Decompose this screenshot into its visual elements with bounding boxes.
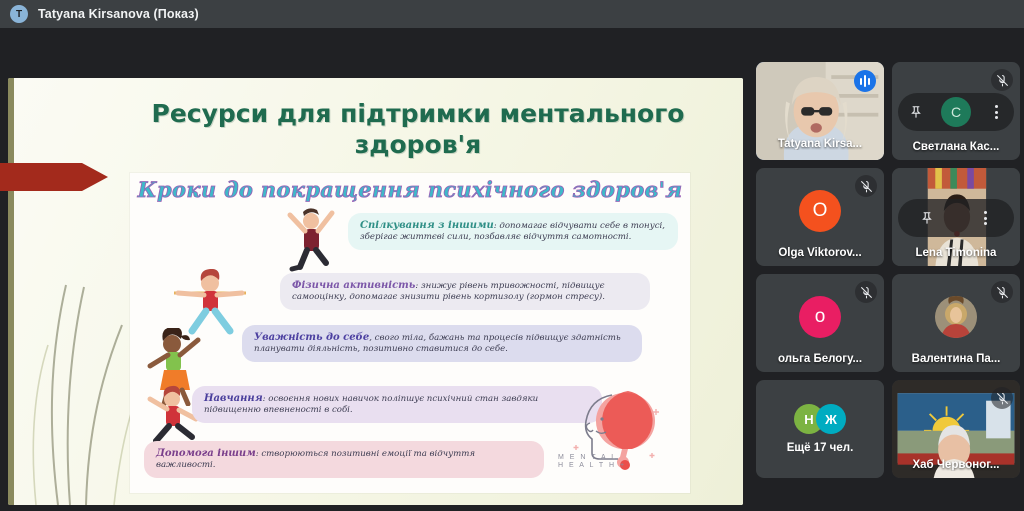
participant-initial-avatar: о — [799, 296, 841, 338]
pin-icon[interactable] — [916, 207, 938, 229]
step-heading-1: Спілкування з іншими — [360, 220, 494, 231]
participant-tile-wrap: Н Ж Ещё 17 чел. — [752, 376, 888, 482]
participant-rail[interactable]: Tatyana Kirsa... С — [752, 58, 1024, 511]
steps-card: Кроки до покращення психічного здоров'я — [130, 173, 690, 493]
mental-health-label: M E N T A L H E A L T H + — [558, 454, 626, 472]
participant-tile-olga-b[interactable]: о ольга Белогу... — [756, 274, 884, 372]
slide-left-spine — [8, 78, 14, 505]
mic-off-glyph — [860, 180, 873, 193]
pin-glyph — [920, 211, 934, 225]
participant-tile-wrap: Tatyana Kirsa... — [752, 58, 888, 164]
jumping-man-illustration — [280, 205, 338, 275]
mental-health-label-line-1: M E N T A L — [558, 454, 626, 463]
step-heading-2: Фізична активність — [292, 280, 415, 291]
participant-tile-olga-v[interactable]: O Olga Viktorov... — [756, 168, 884, 266]
yoga-woman-illustration — [172, 269, 248, 335]
overflow-avatar-group: Н Ж — [794, 404, 846, 434]
steps-card-title: Кроки до покращення психічного здоров'я — [130, 177, 690, 202]
participant-tile-hub[interactable]: Хаб Червоног... — [892, 380, 1020, 478]
audio-level-icon — [854, 70, 876, 92]
participant-name: ольга Белогу... — [756, 353, 884, 365]
step-bubble-4: Навчання: освоєння нових навичок поліпшу… — [192, 386, 602, 423]
mic-off-icon — [991, 281, 1013, 303]
participant-name: Olga Viktorov... — [756, 247, 884, 259]
more-participants-label: Ещё 17 чел. — [787, 442, 854, 454]
mic-off-glyph — [996, 392, 1009, 405]
participant-tile-lena[interactable]: Lena Timonina — [892, 168, 1020, 266]
participant-name: Хаб Червоног... — [892, 459, 1020, 471]
slide-title-line-2: здоров'я — [118, 129, 718, 160]
overflow-avatar-2: Ж — [816, 404, 846, 434]
mic-off-glyph — [860, 286, 873, 299]
mental-health-label-line-2: H E A L T H + — [558, 462, 626, 471]
step-bubble-1: Спілкування з іншими: допомагає відчуват… — [348, 213, 678, 250]
mic-off-icon — [991, 387, 1013, 409]
slide-title-line-1: Ресурси для підтримки ментального — [118, 98, 718, 129]
mental-health-mark: M E N T A L H E A L T H + — [556, 379, 674, 475]
participant-tile-tatyana[interactable]: Tatyana Kirsa... — [756, 62, 884, 160]
tile-hover-controls[interactable] — [898, 199, 1014, 237]
step-heading-3: Уважність до себе — [254, 332, 369, 343]
meeting-screen: T Tatyana Kirsanova (Показ) Ре — [0, 0, 1024, 511]
mic-off-glyph — [996, 74, 1009, 87]
shared-screen-stage[interactable]: Ресурси для підтримки ментального здоров… — [0, 28, 750, 511]
mic-off-icon — [855, 175, 877, 197]
step-bubble-2: Фізична активність: знижує рівень тривож… — [280, 273, 650, 310]
presenter-label: Tatyana Kirsanova (Показ) — [38, 7, 199, 21]
participant-name: Светлана Кас... — [892, 141, 1020, 153]
pin-glyph — [909, 105, 923, 119]
mic-off-glyph — [996, 286, 1009, 299]
participant-tile-svetlana[interactable]: С Светлана Кас... — [892, 62, 1020, 160]
presenter-avatar: T — [10, 5, 28, 23]
more-options-icon[interactable] — [974, 207, 996, 229]
participant-tile-wrap: Валентина Па... — [888, 270, 1024, 376]
presentation-slide: Ресурси для підтримки ментального здоров… — [8, 78, 743, 505]
slide-title: Ресурси для підтримки ментального здоров… — [118, 98, 718, 160]
participant-tile-wrap: Lena Timonina — [888, 164, 1024, 270]
participant-name: Валентина Па... — [892, 353, 1020, 365]
step-bubble-3: Уважність до себе, свого тіла, бажань та… — [242, 325, 642, 362]
participant-tile-wrap: Хаб Червоног... — [888, 376, 1024, 482]
red-arrow-pointer — [0, 157, 108, 197]
pin-icon[interactable] — [905, 101, 927, 123]
participant-tile-wrap: С Светлана Кас... — [888, 58, 1024, 164]
step-heading-5: Допомога іншим — [156, 448, 256, 459]
participant-name: Lena Timonina — [892, 247, 1020, 259]
participant-name: Tatyana Kirsa... — [756, 138, 884, 150]
participant-tile-valentina[interactable]: Валентина Па... — [892, 274, 1020, 372]
presenting-topbar: T Tatyana Kirsanova (Показ) — [0, 0, 1024, 28]
participant-initial-avatar: O — [799, 190, 841, 232]
more-options-icon[interactable] — [985, 101, 1007, 123]
tile-hover-controls[interactable]: С — [898, 93, 1014, 131]
mic-off-icon — [855, 281, 877, 303]
mic-off-icon — [991, 69, 1013, 91]
participant-photo-avatar — [935, 296, 977, 338]
step-bubble-5: Допомога іншим: створюються позитивні ем… — [144, 441, 544, 478]
more-participants-tile[interactable]: Н Ж Ещё 17 чел. — [756, 380, 884, 478]
participant-tile-wrap: о ольга Белогу... — [752, 270, 888, 376]
participant-avatar: С — [941, 97, 971, 127]
participant-tile-wrap: O Olga Viktorov... — [752, 164, 888, 270]
step-heading-4: Навчання — [204, 393, 263, 404]
